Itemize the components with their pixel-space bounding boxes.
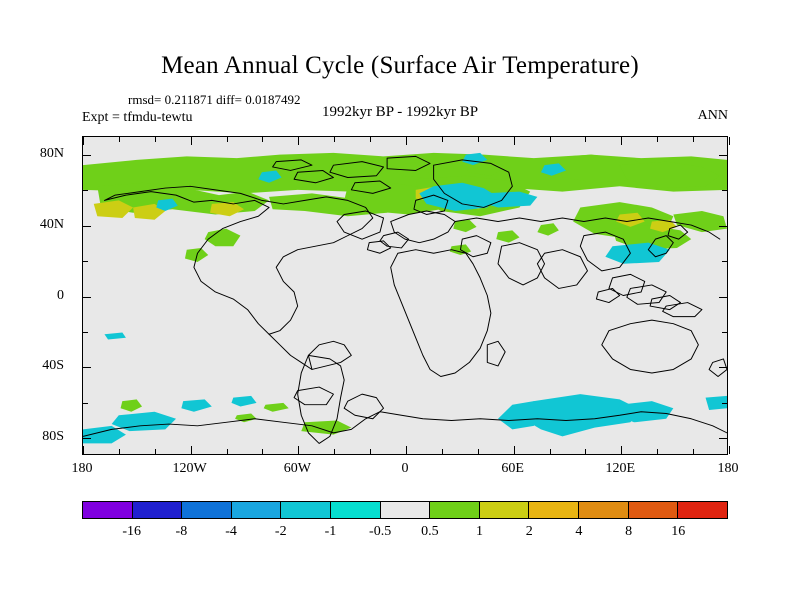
axis-tick (83, 190, 88, 191)
colorbar-segment (480, 502, 530, 518)
axis-tick (406, 446, 407, 454)
axis-tick (334, 137, 335, 142)
axis-tick (442, 137, 443, 142)
axis-tick (550, 137, 551, 142)
axis-tick (719, 155, 727, 156)
axis-tick (83, 438, 91, 439)
axis-tick (693, 449, 694, 454)
colorbar-segment (381, 502, 431, 518)
axis-tick (83, 155, 91, 156)
axis-tick (298, 137, 299, 145)
axis-tick (722, 190, 727, 191)
axis-tick (119, 449, 120, 454)
y-tick-label: 80S (4, 429, 64, 445)
axis-tick (550, 449, 551, 454)
axis-tick (370, 137, 371, 142)
colorbar-segment (579, 502, 629, 518)
axis-tick (227, 137, 228, 142)
colorbar-segment (182, 502, 232, 518)
colorbar-tick-label: -0.5 (369, 524, 391, 540)
axis-tick (406, 137, 407, 145)
colorbar-tick-label: 0.5 (421, 524, 439, 540)
colorbar-segment (83, 502, 133, 518)
y-tick-label: 40N (4, 217, 64, 233)
x-tick-label: 180 (718, 461, 739, 477)
axis-tick (334, 449, 335, 454)
colorbar-tick-label: 16 (671, 524, 685, 540)
colorbar-segment (133, 502, 183, 518)
colorbar-tick-label: -1 (325, 524, 337, 540)
season-label: ANN (698, 108, 728, 124)
colorbar-tick-label: -2 (275, 524, 287, 540)
axis-tick (478, 137, 479, 142)
axis-tick (719, 226, 727, 227)
axis-tick (262, 137, 263, 142)
colorbar-tick-label: 4 (575, 524, 582, 540)
x-tick-label: 120W (173, 461, 207, 477)
world-map (83, 137, 727, 454)
x-tick-label: 0 (402, 461, 409, 477)
colorbar-tick-label: -4 (225, 524, 237, 540)
colorbar-tick-label: 8 (625, 524, 632, 540)
axis-tick (693, 137, 694, 142)
axis-tick (83, 446, 84, 454)
colorbar-segment (232, 502, 282, 518)
axis-tick (83, 137, 84, 145)
axis-tick (298, 446, 299, 454)
axis-tick (722, 403, 727, 404)
axis-tick (155, 449, 156, 454)
axis-tick (370, 449, 371, 454)
page-title: Mean Annual Cycle (Surface Air Temperatu… (0, 52, 800, 80)
climate-map-figure: Mean Annual Cycle (Surface Air Temperatu… (0, 0, 800, 600)
colorbar (82, 501, 728, 519)
axis-tick (621, 137, 622, 145)
axis-tick (514, 137, 515, 145)
axis-tick (191, 137, 192, 145)
axis-tick (442, 449, 443, 454)
colorbar-tick-label: -16 (122, 524, 141, 540)
x-tick-label: 60E (501, 461, 524, 477)
axis-tick (227, 449, 228, 454)
axis-tick (657, 137, 658, 142)
axis-tick (729, 137, 730, 145)
colorbar-tick-label: 1 (476, 524, 483, 540)
axis-tick (722, 261, 727, 262)
period-label: 1992kyr BP - 1992kyr BP (0, 104, 800, 121)
axis-tick (478, 449, 479, 454)
y-tick-label: 40S (4, 358, 64, 374)
axis-tick (155, 137, 156, 142)
axis-tick (729, 446, 730, 454)
colorbar-segment (678, 502, 727, 518)
axis-tick (83, 332, 88, 333)
axis-tick (514, 446, 515, 454)
axis-tick (657, 449, 658, 454)
map-plot-area (82, 136, 728, 455)
colorbar-segment (430, 502, 480, 518)
y-tick-label: 80N (4, 146, 64, 162)
axis-tick (719, 297, 727, 298)
axis-tick (83, 261, 88, 262)
axis-tick (585, 449, 586, 454)
axis-tick (119, 137, 120, 142)
x-tick-label: 60W (284, 461, 311, 477)
axis-tick (83, 297, 91, 298)
axis-tick (719, 438, 727, 439)
colorbar-segment (331, 502, 381, 518)
axis-tick (83, 226, 91, 227)
axis-tick (191, 446, 192, 454)
axis-tick (262, 449, 263, 454)
colorbar-segment (529, 502, 579, 518)
axis-tick (83, 403, 88, 404)
y-tick-label: 0 (4, 288, 64, 304)
axis-tick (585, 137, 586, 142)
axis-tick (722, 332, 727, 333)
x-tick-label: 120E (606, 461, 636, 477)
x-tick-label: 180 (72, 461, 93, 477)
colorbar-tick-label: 2 (526, 524, 533, 540)
colorbar-tick-label: -8 (176, 524, 188, 540)
axis-tick (83, 367, 91, 368)
colorbar-segment (629, 502, 679, 518)
axis-tick (621, 446, 622, 454)
axis-tick (719, 367, 727, 368)
colorbar-segment (281, 502, 331, 518)
